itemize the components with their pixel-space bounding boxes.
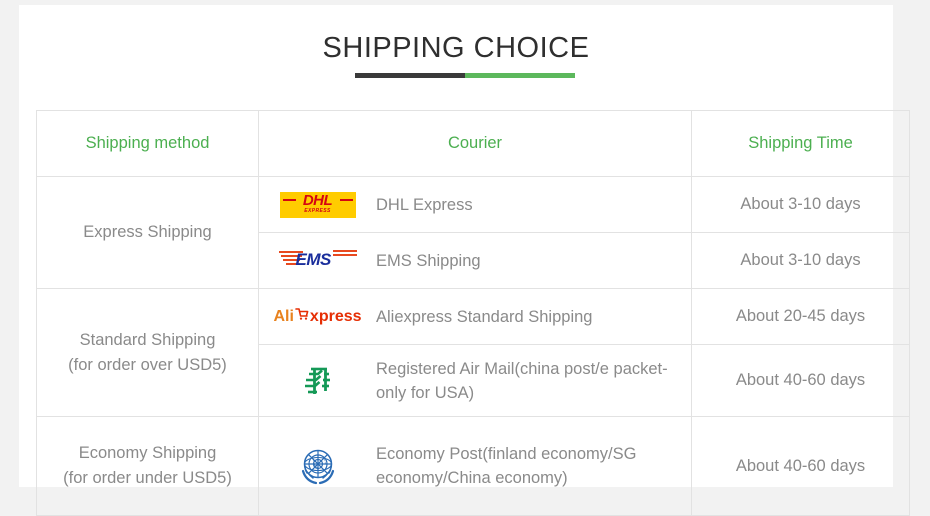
courier-cell-ems: EMS EMS Shipping xyxy=(259,233,692,289)
method-note: (for order over USD5) xyxy=(41,353,254,378)
table-row: Economy Shipping (for order under USD5) xyxy=(37,417,910,516)
ems-logo-stripes-right xyxy=(333,250,357,260)
shipping-table: Shipping method Courier Shipping Time Ex… xyxy=(36,110,910,516)
page-title: SHIPPING CHOICE xyxy=(19,29,893,67)
method-label: Standard Shipping xyxy=(41,328,254,353)
courier-cell-dhl: DHL EXPRESS DHL Express xyxy=(259,177,692,233)
courier-cell-economy-post: Economy Post(finland economy/SG economy/… xyxy=(259,417,692,516)
aliexpress-logo-text-xpress: xpress xyxy=(310,308,362,326)
table-header-row: Shipping method Courier Shipping Time xyxy=(37,111,910,177)
courier-name: EMS Shipping xyxy=(376,249,691,273)
courier-name: DHL Express xyxy=(376,193,691,217)
page-root: SHIPPING CHOICE Shipping method Courier … xyxy=(0,0,930,508)
method-note: (for order under USD5) xyxy=(41,466,254,491)
table-row: Express Shipping DHL EXPRESS xyxy=(37,177,910,233)
logo-box: DHL EXPRESS xyxy=(259,192,376,218)
method-label: Economy Shipping xyxy=(41,441,254,466)
aliexpress-logo: Ali xpress xyxy=(273,306,361,328)
table-row: Standard Shipping (for order over USD5) … xyxy=(37,289,910,345)
aliexpress-logo-text-ali: Ali xyxy=(273,308,293,326)
column-header-shipping-method: Shipping method xyxy=(37,111,259,177)
un-emblem-logo xyxy=(294,442,342,490)
shipping-time-cell: About 3-10 days xyxy=(692,177,910,233)
ems-logo: EMS xyxy=(279,247,357,275)
logo-box: Ali xpress xyxy=(259,306,376,328)
dhl-logo: DHL EXPRESS xyxy=(280,192,356,218)
method-cell-express: Express Shipping xyxy=(37,177,259,289)
title-underline xyxy=(355,73,575,78)
logo-box: EMS xyxy=(259,247,376,275)
page-title-wrap: SHIPPING CHOICE xyxy=(19,29,893,67)
courier-name: Registered Air Mail(china post/e packet-… xyxy=(376,357,691,405)
shopping-cart-icon xyxy=(295,307,309,326)
table-header: Shipping method Courier Shipping Time xyxy=(37,111,910,177)
column-header-courier: Courier xyxy=(259,111,692,177)
courier-name: Aliexpress Standard Shipping xyxy=(376,305,691,329)
method-label: Express Shipping xyxy=(41,220,254,245)
title-underline-green-segment xyxy=(465,73,575,78)
dhl-logo-text: DHL xyxy=(280,192,356,209)
title-underline-dark-segment xyxy=(355,73,465,78)
china-post-logo xyxy=(298,361,338,401)
dhl-logo-subtext: EXPRESS xyxy=(280,208,356,215)
shipping-time-cell: About 3-10 days xyxy=(692,233,910,289)
logo-box xyxy=(259,442,376,490)
shipping-choice-card: SHIPPING CHOICE Shipping method Courier … xyxy=(19,5,893,487)
courier-name: Economy Post(finland economy/SG economy/… xyxy=(376,442,691,490)
shipping-time-cell: About 40-60 days xyxy=(692,345,910,417)
courier-cell-china-post: Registered Air Mail(china post/e packet-… xyxy=(259,345,692,417)
shipping-time-cell: About 20-45 days xyxy=(692,289,910,345)
method-cell-standard: Standard Shipping (for order over USD5) xyxy=(37,289,259,417)
courier-cell-aliexpress: Ali xpress xyxy=(259,289,692,345)
method-cell-economy: Economy Shipping (for order under USD5) xyxy=(37,417,259,516)
ems-logo-text: EMS xyxy=(296,250,331,270)
column-header-shipping-time: Shipping Time xyxy=(692,111,910,177)
table-body: Express Shipping DHL EXPRESS xyxy=(37,177,910,516)
logo-box xyxy=(259,361,376,401)
shipping-time-cell: About 40-60 days xyxy=(692,417,910,516)
